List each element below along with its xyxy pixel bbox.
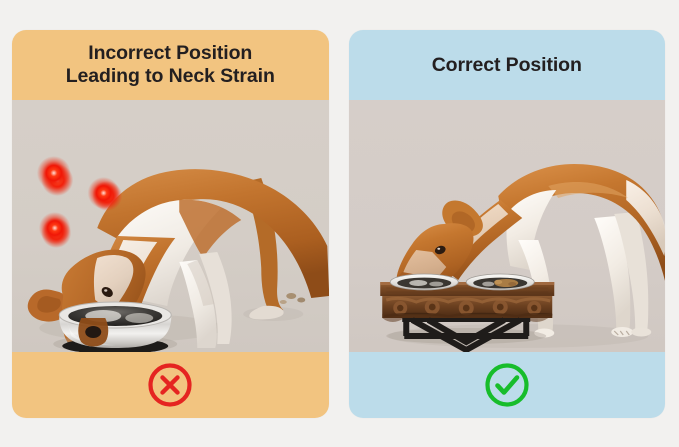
panel-header-incorrect: Incorrect Position Leading to Neck Strai…: [12, 30, 329, 100]
panel-title-incorrect: Incorrect Position Leading to Neck Strai…: [60, 42, 281, 88]
elevated-feeder: [380, 274, 554, 350]
panel-header-correct: Correct Position: [349, 30, 666, 100]
check-circle-icon: [483, 361, 531, 409]
illustration-dog-elevated-feeder: [349, 100, 666, 352]
photo-incorrect-position: [12, 100, 329, 352]
pain-point-3: [41, 218, 71, 248]
comparison-board: Incorrect Position Leading to Neck Strai…: [0, 0, 679, 447]
panel-footer-correct: [349, 352, 666, 418]
panel-correct-position: Correct Position: [349, 30, 666, 418]
panel-title-correct: Correct Position: [426, 54, 588, 77]
pain-point-2: [92, 181, 122, 211]
floor-bowl: [59, 302, 171, 352]
panel-footer-incorrect: [12, 352, 329, 418]
panel-incorrect-position: Incorrect Position Leading to Neck Strai…: [12, 30, 329, 418]
cross-circle-icon: [146, 361, 194, 409]
pain-point-group: [41, 164, 122, 248]
pain-point-1: [41, 164, 73, 196]
illustration-dog-floor-bowl: [12, 100, 329, 352]
photo-correct-position: [349, 100, 666, 352]
